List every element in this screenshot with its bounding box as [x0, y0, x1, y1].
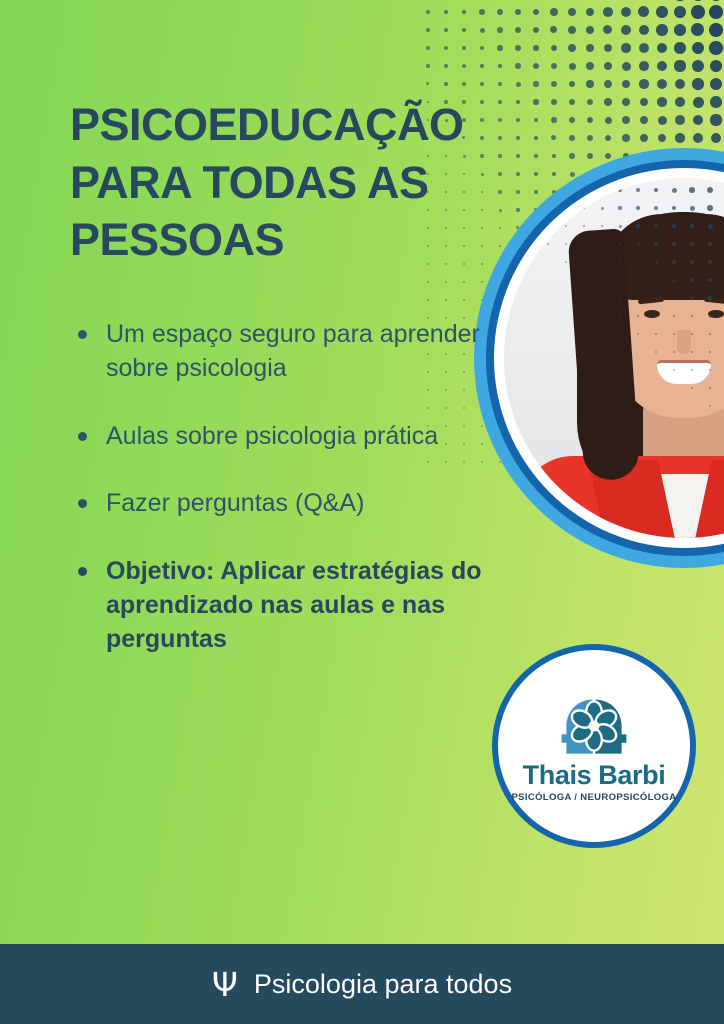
footer-text: Psicologia para todos: [254, 969, 512, 1000]
page-title: PSICOEDUCAÇÃO PARA TODAS AS PESSOAS: [70, 96, 550, 269]
list-item: Um espaço seguro para aprender sobre psi…: [72, 318, 492, 386]
list-item-text: Fazer perguntas (Q&A): [106, 489, 364, 517]
brand-logo-inner: Thais Barbi PSICÓLOGA / NEUROPSICÓLOGA: [498, 650, 690, 842]
footer-bar: Ψ Psicologia para todos: [0, 944, 724, 1024]
list-item: Fazer perguntas (Q&A): [72, 487, 492, 521]
bullet-dot-icon: [78, 432, 87, 441]
list-item-text: Um espaço seguro para aprender sobre psi…: [106, 320, 480, 382]
eye-right: [708, 310, 724, 318]
eye-left: [644, 310, 660, 318]
list-item: Objetivo: Aplicar estratégias do aprendi…: [72, 555, 492, 656]
two-heads-flower-icon: [546, 696, 642, 756]
poster: PSICOEDUCAÇÃO PARA TODAS AS PESSOAS Um e…: [0, 0, 724, 1024]
list-item-text: Aulas sobre psicologia prática: [106, 422, 438, 450]
bullet-dot-icon: [78, 567, 87, 576]
bullet-dot-icon: [78, 499, 87, 508]
bullet-list: Um espaço seguro para aprender sobre psi…: [72, 318, 492, 656]
list-item: Aulas sobre psicologia prática: [72, 420, 492, 454]
bullet-dot-icon: [78, 330, 87, 339]
psi-symbol-icon: Ψ: [212, 968, 238, 1001]
brand-subtitle: PSICÓLOGA / NEUROPSICÓLOGA: [512, 792, 677, 803]
list-item-text: Objetivo: Aplicar estratégias do aprendi…: [106, 557, 482, 653]
nose: [677, 330, 691, 354]
brand-logo-badge: Thais Barbi PSICÓLOGA / NEUROPSICÓLOGA: [492, 644, 696, 848]
brand-name: Thais Barbi: [523, 760, 666, 791]
